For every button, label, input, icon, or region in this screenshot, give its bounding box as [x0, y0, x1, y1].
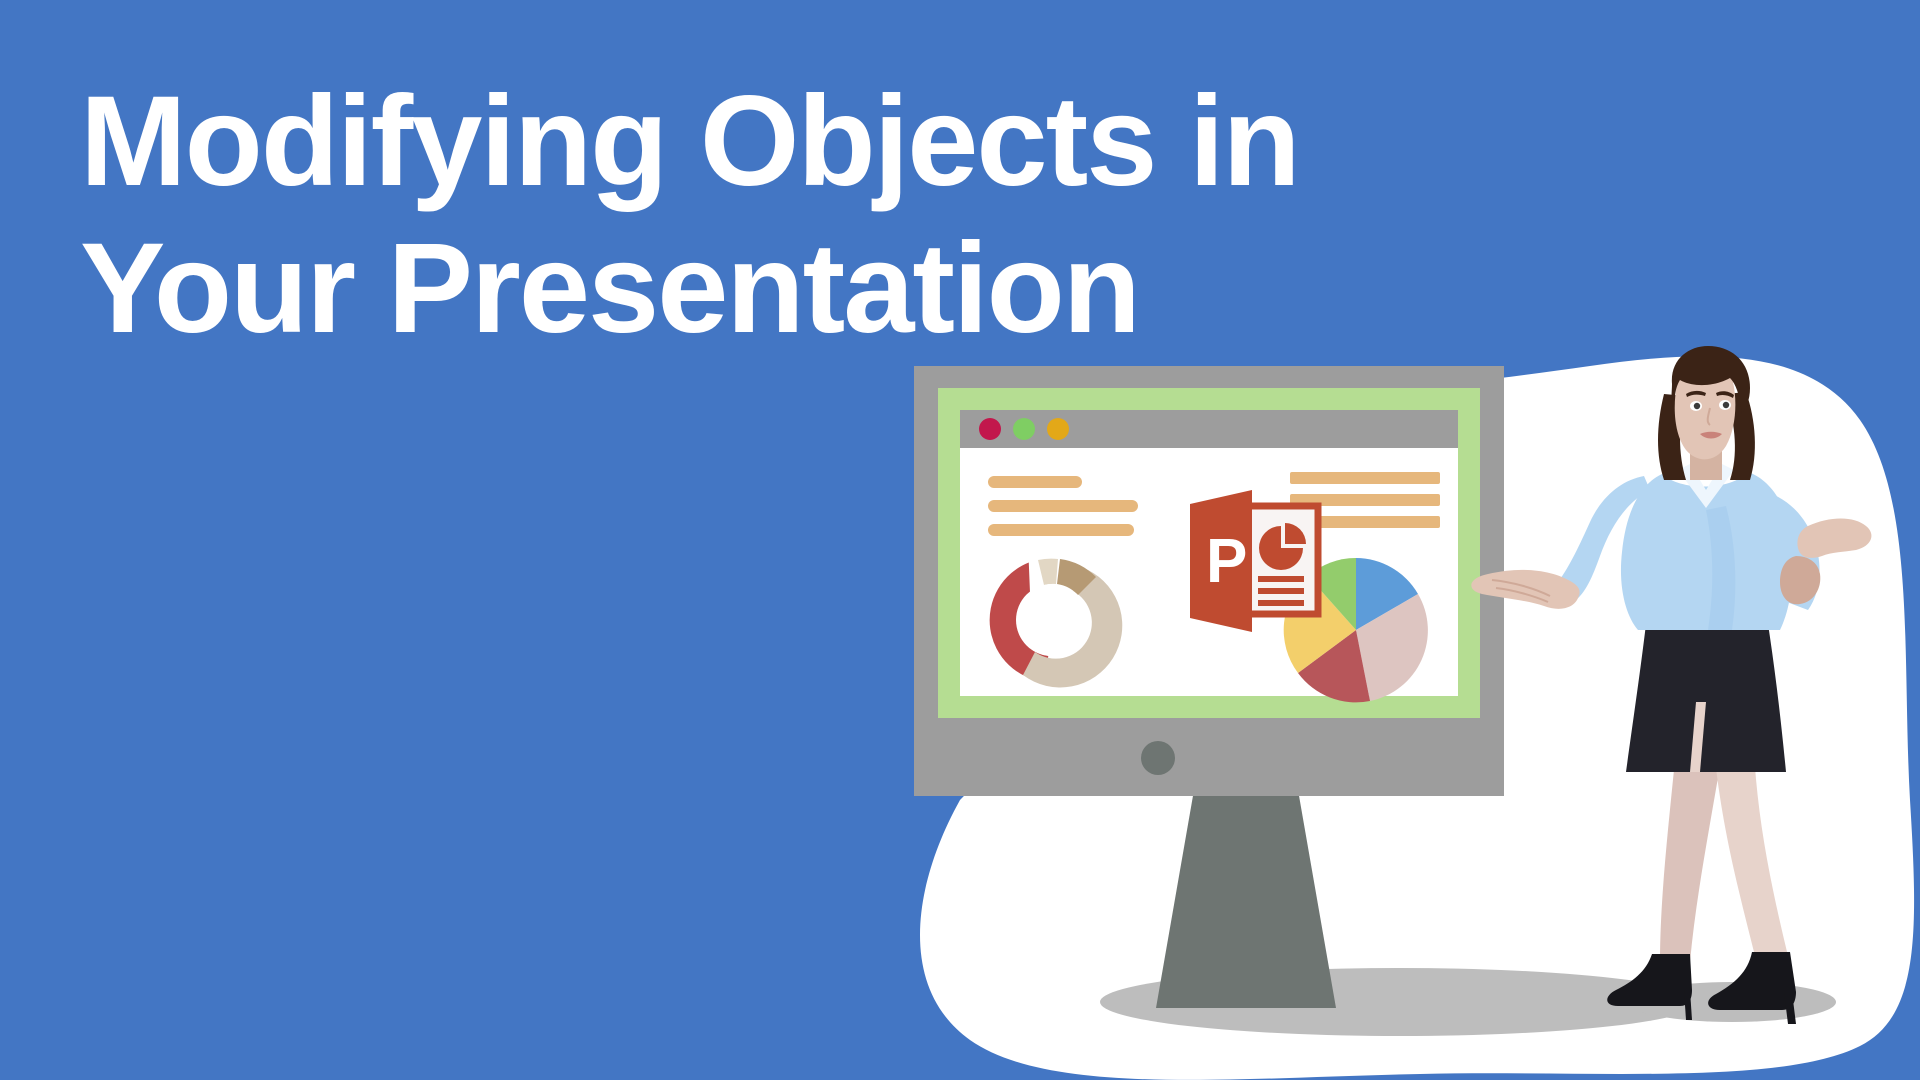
close-dot-icon[interactable] — [979, 418, 1001, 440]
presenter-skirt — [1626, 624, 1786, 772]
monitor-power-button[interactable] — [1141, 741, 1175, 775]
title-line-1: Modifying Objects in — [80, 68, 1260, 215]
powerpoint-presentation-illustration: P — [900, 330, 1920, 1080]
slide-canvas: Modifying Objects in Your Presentation — [0, 0, 1920, 1080]
maximize-dot-icon[interactable] — [1047, 418, 1069, 440]
powerpoint-card-line-1 — [1258, 576, 1304, 582]
text-line-left-2 — [988, 500, 1138, 512]
powerpoint-logo: P — [1190, 490, 1318, 632]
presenter-pupil-right — [1723, 402, 1729, 408]
text-line-left-1 — [988, 476, 1082, 488]
donut-hole — [1016, 584, 1088, 656]
powerpoint-card-line-3 — [1258, 600, 1304, 606]
text-line-right-1 — [1290, 472, 1440, 484]
powerpoint-letter-p: P — [1206, 527, 1247, 596]
minimize-dot-icon[interactable] — [1013, 418, 1035, 440]
page-title: Modifying Objects in Your Presentation — [80, 68, 1260, 362]
powerpoint-card-line-2 — [1258, 588, 1304, 594]
presenter-pupil-left — [1694, 403, 1700, 409]
text-line-left-3 — [988, 524, 1134, 536]
